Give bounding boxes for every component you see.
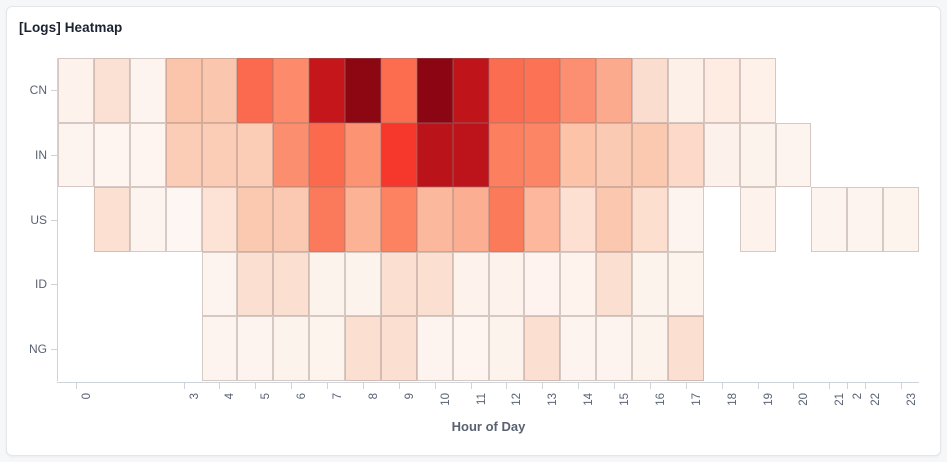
heatmap-cell-empty xyxy=(883,58,919,123)
heatmap-cell[interactable] xyxy=(489,316,525,381)
x-axis-tick xyxy=(901,382,902,389)
heatmap-cell-empty xyxy=(94,316,130,381)
heatmap-cell[interactable] xyxy=(273,58,309,123)
heatmap-cell[interactable] xyxy=(166,58,202,123)
heatmap-cell[interactable] xyxy=(560,58,596,123)
heatmap-cell[interactable] xyxy=(453,316,489,381)
heatmap-cell[interactable] xyxy=(309,58,345,123)
heatmap-cell[interactable] xyxy=(632,316,668,381)
heatmap-cell-empty xyxy=(166,252,202,317)
heatmap-cell[interactable] xyxy=(381,187,417,252)
heatmap-cell[interactable] xyxy=(202,187,238,252)
heatmap-cell[interactable] xyxy=(309,316,345,381)
x-axis-label-10: 10 xyxy=(440,393,452,406)
heatmap-cell[interactable] xyxy=(596,123,632,188)
y-axis-label-ng: NG xyxy=(29,342,47,356)
heatmap-cell[interactable] xyxy=(560,187,596,252)
heatmap-cell[interactable] xyxy=(94,58,130,123)
x-axis-label-23: 23 xyxy=(906,393,918,406)
heatmap-cell-empty xyxy=(776,316,812,381)
heatmap-cell[interactable] xyxy=(453,252,489,317)
heatmap-cell[interactable] xyxy=(381,58,417,123)
heatmap-cell[interactable] xyxy=(740,187,776,252)
heatmap-cell-empty xyxy=(776,58,812,123)
x-axis-label-20: 20 xyxy=(798,393,810,406)
x-axis-tick xyxy=(219,382,220,389)
x-axis-tick xyxy=(435,382,436,389)
heatmap-cell[interactable] xyxy=(847,187,883,252)
x-axis-tick xyxy=(471,382,472,389)
heatmap-cell-empty xyxy=(58,316,94,381)
heatmap-cell[interactable] xyxy=(596,252,632,317)
heatmap-cell-empty xyxy=(776,252,812,317)
heatmap-cell-empty xyxy=(130,316,166,381)
heatmap-cell-empty xyxy=(740,252,776,317)
x-axis-tick xyxy=(865,382,866,389)
heatmap-cell[interactable] xyxy=(237,58,273,123)
y-axis-tick xyxy=(51,284,58,285)
heatmap-cell-empty xyxy=(776,187,812,252)
heatmap-cell[interactable] xyxy=(560,123,596,188)
heatmap-cell[interactable] xyxy=(489,252,525,317)
heatmap-cell[interactable] xyxy=(94,187,130,252)
heatmap-cell-empty xyxy=(883,252,919,317)
heatmap-cell[interactable] xyxy=(381,316,417,381)
x-axis-label-7: 7 xyxy=(332,393,344,399)
heatmap-cell[interactable] xyxy=(237,187,273,252)
heatmap-cell-empty xyxy=(811,252,847,317)
heatmap-cell[interactable] xyxy=(130,58,166,123)
heatmap-cell-empty xyxy=(847,252,883,317)
heatmap-cell[interactable] xyxy=(632,187,668,252)
heatmap-cell[interactable] xyxy=(740,58,776,123)
x-axis-tick xyxy=(758,382,759,389)
y-axis-label-cn: CN xyxy=(30,83,47,97)
heatmap-cell[interactable] xyxy=(130,187,166,252)
heatmap-cell[interactable] xyxy=(704,123,740,188)
x-axis-tick xyxy=(722,382,723,389)
heatmap-cell[interactable] xyxy=(453,187,489,252)
heatmap-cell[interactable] xyxy=(668,252,704,317)
x-axis-tick xyxy=(399,382,400,389)
heatmap-cell[interactable] xyxy=(381,252,417,317)
heatmap-cell[interactable] xyxy=(489,58,525,123)
y-axis-tick xyxy=(51,220,58,221)
heatmap-cell[interactable] xyxy=(668,58,704,123)
x-axis-label-15: 15 xyxy=(619,393,631,406)
heatmap-cell[interactable] xyxy=(632,58,668,123)
heatmap-cell-empty xyxy=(883,316,919,381)
x-axis-tick xyxy=(578,382,579,389)
x-axis-tick xyxy=(793,382,794,389)
heatmap-cell-empty xyxy=(847,58,883,123)
heatmap-cell[interactable] xyxy=(596,187,632,252)
heatmap-cell-empty xyxy=(811,123,847,188)
heatmap-cell[interactable] xyxy=(381,123,417,188)
y-axis-tick xyxy=(51,349,58,350)
x-axis-tick xyxy=(829,382,830,389)
x-axis-label-8: 8 xyxy=(368,393,380,399)
x-axis-tick xyxy=(506,382,507,389)
x-axis-title: Hour of Day xyxy=(58,419,919,434)
x-axis-label-3: 3 xyxy=(189,393,201,399)
y-axis-label-id: ID xyxy=(35,277,47,291)
heatmap-cell-empty xyxy=(811,316,847,381)
y-axis-tick xyxy=(51,155,58,156)
heatmap-cell[interactable] xyxy=(58,123,94,188)
heatmap-cell[interactable] xyxy=(166,123,202,188)
x-axis-tick xyxy=(327,382,328,389)
heatmap-cell[interactable] xyxy=(309,123,345,188)
heatmap-cell[interactable] xyxy=(596,58,632,123)
heatmap-cell[interactable] xyxy=(524,58,560,123)
x-axis-tick xyxy=(291,382,292,389)
x-axis-label-17: 17 xyxy=(691,393,703,406)
heatmap-cell[interactable] xyxy=(166,187,202,252)
x-axis-label-5: 5 xyxy=(260,393,272,399)
heatmap-cell[interactable] xyxy=(524,123,560,188)
heatmap-cell-empty xyxy=(704,187,740,252)
heatmap-cell[interactable] xyxy=(237,316,273,381)
heatmap-cell[interactable] xyxy=(417,123,453,188)
heatmap-cell[interactable] xyxy=(202,58,238,123)
x-axis-label-12: 12 xyxy=(511,393,523,406)
y-axis-labels: CNINUSIDNG xyxy=(7,7,47,456)
heatmap-cell[interactable] xyxy=(237,123,273,188)
heatmap-cell-empty xyxy=(847,316,883,381)
heatmap-cell[interactable] xyxy=(453,58,489,123)
x-axis-tick xyxy=(650,382,651,389)
heatmap-plot: CNINUSIDNG 03456789101112131415161718192… xyxy=(7,7,941,456)
y-axis-label-in: IN xyxy=(35,148,47,162)
heatmap-cell[interactable] xyxy=(345,252,381,317)
heatmap-cell[interactable] xyxy=(130,123,166,188)
heatmap-cell-empty xyxy=(130,252,166,317)
app-root: [Logs] Heatmap CNINUSIDNG 03456789101112… xyxy=(0,0,947,462)
x-axis-label-16: 16 xyxy=(655,393,667,406)
x-axis-label-9: 9 xyxy=(404,393,416,399)
heatmap-cell-empty xyxy=(704,316,740,381)
heatmap-cell[interactable] xyxy=(345,123,381,188)
x-axis-tick xyxy=(847,382,848,389)
heatmap-cell[interactable] xyxy=(345,58,381,123)
heatmap-cell[interactable] xyxy=(273,123,309,188)
heatmap-cell[interactable] xyxy=(883,187,919,252)
x-axis-label-18: 18 xyxy=(727,393,739,406)
heatmap-cell[interactable] xyxy=(309,187,345,252)
heatmap-cell[interactable] xyxy=(740,123,776,188)
heatmap-cell[interactable] xyxy=(596,316,632,381)
heatmap-cell[interactable] xyxy=(524,187,560,252)
heatmap-cell[interactable] xyxy=(417,58,453,123)
heatmap-cell[interactable] xyxy=(632,123,668,188)
x-axis-tick xyxy=(255,382,256,389)
heatmap-cell[interactable] xyxy=(811,187,847,252)
heatmap-cell[interactable] xyxy=(524,316,560,381)
heatmap-cell[interactable] xyxy=(417,316,453,381)
heatmap-cell-empty xyxy=(166,316,202,381)
heatmap-cell[interactable] xyxy=(94,123,130,188)
heatmap-cell-empty xyxy=(811,58,847,123)
heatmap-cell[interactable] xyxy=(453,123,489,188)
heatmap-cell[interactable] xyxy=(273,187,309,252)
x-axis-label-2: 2 xyxy=(852,393,864,399)
x-axis-label-0: 0 xyxy=(81,393,93,399)
y-axis-label-us: US xyxy=(30,213,47,227)
heatmap-cell-empty xyxy=(58,252,94,317)
x-axis-label-13: 13 xyxy=(547,393,559,406)
heatmap-panel: [Logs] Heatmap CNINUSIDNG 03456789101112… xyxy=(6,6,941,456)
heatmap-cell[interactable] xyxy=(560,252,596,317)
heatmap-cell[interactable] xyxy=(202,252,238,317)
heatmap-cell[interactable] xyxy=(776,123,812,188)
heatmap-cell[interactable] xyxy=(309,252,345,317)
x-axis-tick xyxy=(184,382,185,389)
heatmap-cell[interactable] xyxy=(489,187,525,252)
heatmap-cell-empty xyxy=(94,252,130,317)
x-axis-label-21: 21 xyxy=(834,393,846,406)
heatmap-cell[interactable] xyxy=(489,123,525,188)
x-axis-line xyxy=(57,382,919,383)
heatmap-cell[interactable] xyxy=(345,187,381,252)
heatmap-cell[interactable] xyxy=(560,316,596,381)
heatmap-cell[interactable] xyxy=(345,316,381,381)
x-axis-label-19: 19 xyxy=(763,393,775,406)
x-axis-tick xyxy=(363,382,364,389)
heatmap-cell-empty xyxy=(58,187,94,252)
heatmap-cell[interactable] xyxy=(202,316,238,381)
heatmap-cell[interactable] xyxy=(273,252,309,317)
x-axis-tick xyxy=(542,382,543,389)
heatmap-cell[interactable] xyxy=(273,316,309,381)
heatmap-grid[interactable] xyxy=(58,58,919,381)
x-axis-tick xyxy=(686,382,687,389)
heatmap-cell-empty xyxy=(740,316,776,381)
x-axis-label-11: 11 xyxy=(476,393,488,405)
heatmap-cell-empty xyxy=(847,123,883,188)
heatmap-cell[interactable] xyxy=(524,252,560,317)
heatmap-cell[interactable] xyxy=(668,123,704,188)
heatmap-cell-empty xyxy=(704,252,740,317)
x-axis-label-6: 6 xyxy=(296,393,308,399)
heatmap-cell[interactable] xyxy=(668,187,704,252)
x-axis-tick xyxy=(614,382,615,389)
heatmap-cell[interactable] xyxy=(237,252,273,317)
heatmap-cell[interactable] xyxy=(668,316,704,381)
y-axis-tick xyxy=(51,90,58,91)
heatmap-cell[interactable] xyxy=(202,123,238,188)
heatmap-cell[interactable] xyxy=(417,252,453,317)
x-axis-label-14: 14 xyxy=(583,393,595,406)
heatmap-cell[interactable] xyxy=(58,58,94,123)
x-axis-label-4: 4 xyxy=(224,393,236,399)
heatmap-cell-empty xyxy=(883,123,919,188)
heatmap-cell[interactable] xyxy=(704,58,740,123)
x-axis-tick xyxy=(76,382,77,389)
heatmap-cell[interactable] xyxy=(632,252,668,317)
x-axis-label-22: 22 xyxy=(870,393,882,406)
heatmap-cell[interactable] xyxy=(417,187,453,252)
